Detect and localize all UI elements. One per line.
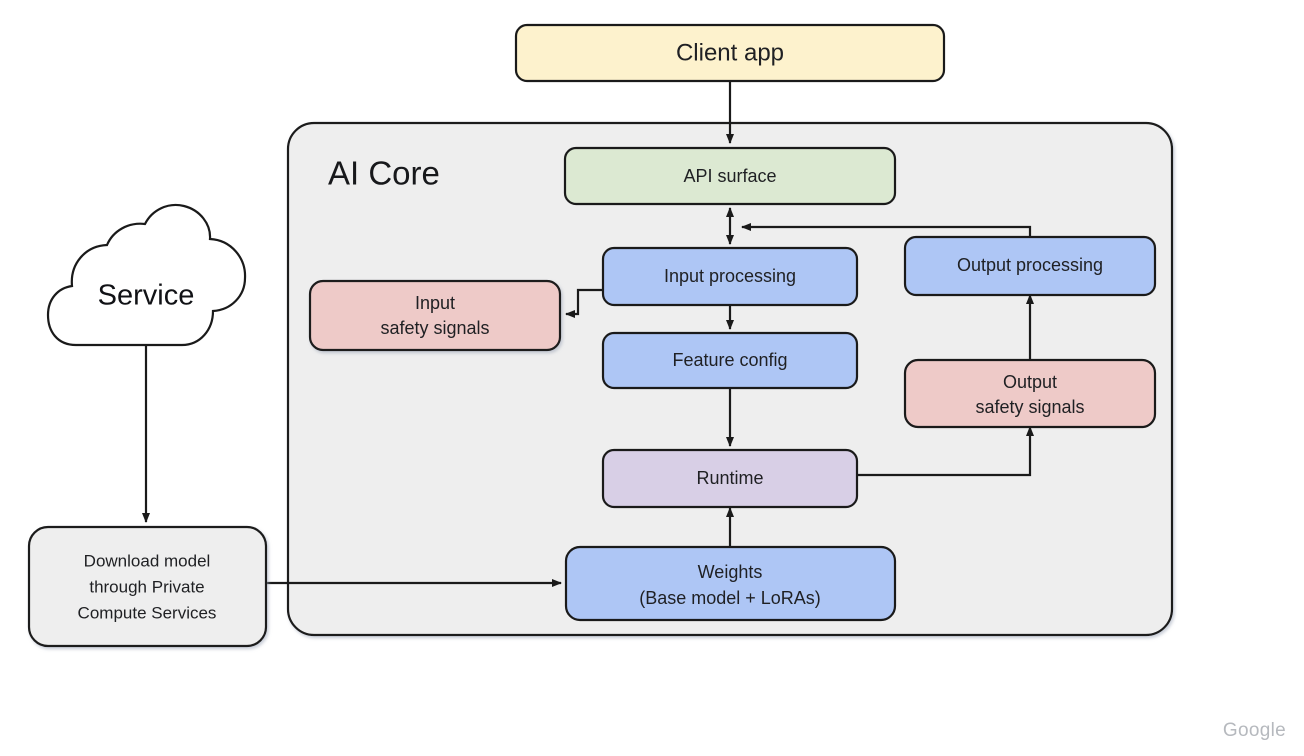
node-api-surface[interactable]: API surface (565, 148, 895, 204)
download-model-label-line1: Download model (84, 551, 211, 570)
service-label: Service (98, 280, 195, 312)
runtime-label: Runtime (696, 468, 763, 488)
node-weights[interactable]: Weights (Base model + LoRAs) (566, 547, 895, 620)
node-runtime[interactable]: Runtime (603, 450, 857, 507)
service-cloud-shape[interactable] (48, 205, 245, 345)
diagram-canvas: AI Core (0, 0, 1304, 756)
ai-core-group-label: AI Core (328, 155, 440, 192)
output-safety-signals-box[interactable] (905, 360, 1155, 427)
download-model-label-line2: through Private (89, 577, 204, 596)
input-processing-label: Input processing (664, 266, 796, 286)
output-safety-signals-label-line1: Output (1003, 372, 1057, 392)
client-app-label: Client app (676, 39, 784, 66)
weights-box[interactable] (566, 547, 895, 620)
node-input-processing[interactable]: Input processing (603, 248, 857, 305)
feature-config-label: Feature config (672, 350, 787, 370)
node-output-safety-signals[interactable]: Output safety signals (905, 360, 1155, 427)
weights-label-line1: Weights (698, 562, 763, 582)
node-output-processing[interactable]: Output processing (905, 237, 1155, 295)
input-safety-signals-label-line1: Input (415, 293, 455, 313)
google-watermark: Google (1223, 720, 1286, 742)
weights-label-line2: (Base model + LoRAs) (639, 588, 821, 608)
input-safety-signals-label-line2: safety signals (380, 318, 489, 338)
output-processing-label: Output processing (957, 255, 1103, 275)
node-input-safety-signals[interactable]: Input safety signals (310, 281, 560, 350)
input-safety-signals-box[interactable] (310, 281, 560, 350)
node-client-app[interactable]: Client app (516, 25, 944, 81)
output-safety-signals-label-line2: safety signals (975, 397, 1084, 417)
download-model-label-line3: Compute Services (78, 603, 217, 622)
node-service[interactable]: Service (48, 205, 245, 345)
ai-core-architecture-diagram: AI Core (0, 0, 1304, 756)
api-surface-label: API surface (683, 166, 776, 186)
node-feature-config[interactable]: Feature config (603, 333, 857, 388)
node-download-model[interactable]: Download model through Private Compute S… (29, 527, 266, 646)
